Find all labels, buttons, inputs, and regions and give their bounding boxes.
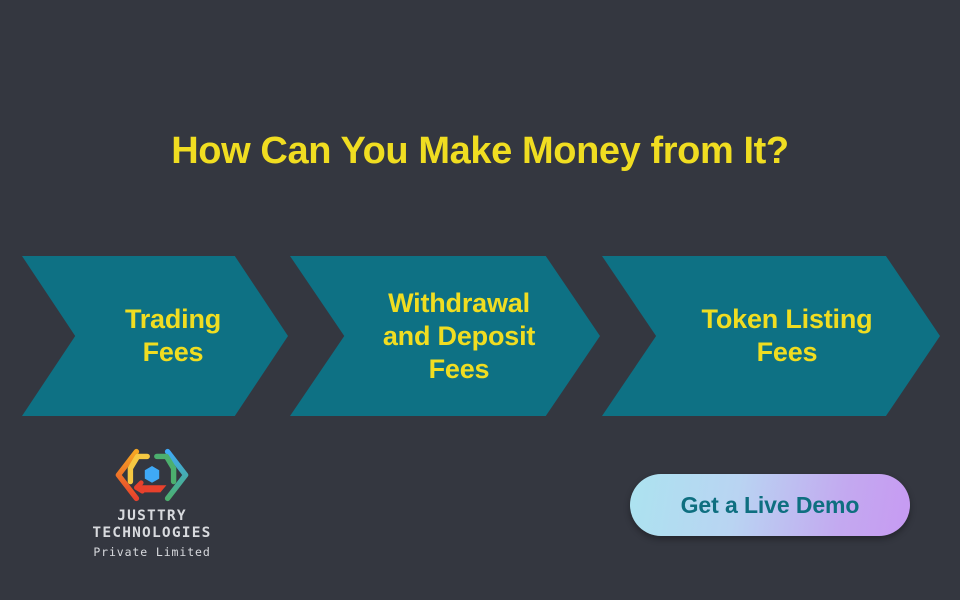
company-name: JUSTTRY TECHNOLOGIES <box>57 508 247 542</box>
justtry-hexagon-logo-icon <box>110 448 194 502</box>
flow-step-token-listing-fees: Token Listing Fees <box>602 256 940 416</box>
flow-step-withdrawal-deposit-fees: Withdrawal and Deposit Fees <box>290 256 600 416</box>
company-logo: JUSTTRY TECHNOLOGIES Private Limited <box>57 448 247 560</box>
get-a-live-demo-button[interactable]: Get a Live Demo <box>630 474 910 536</box>
page-title: How Can You Make Money from It? <box>0 128 960 174</box>
flow-step-label: Trading Fees <box>125 303 221 369</box>
company-legal-suffix: Private Limited <box>57 545 247 560</box>
flow-step-trading-fees: Trading Fees <box>22 256 288 416</box>
monetization-flow-diagram: Trading Fees Withdrawal and Deposit Fees… <box>0 256 960 416</box>
flow-step-label: Token Listing Fees <box>702 303 873 369</box>
flow-step-label: Withdrawal and Deposit Fees <box>383 287 535 386</box>
